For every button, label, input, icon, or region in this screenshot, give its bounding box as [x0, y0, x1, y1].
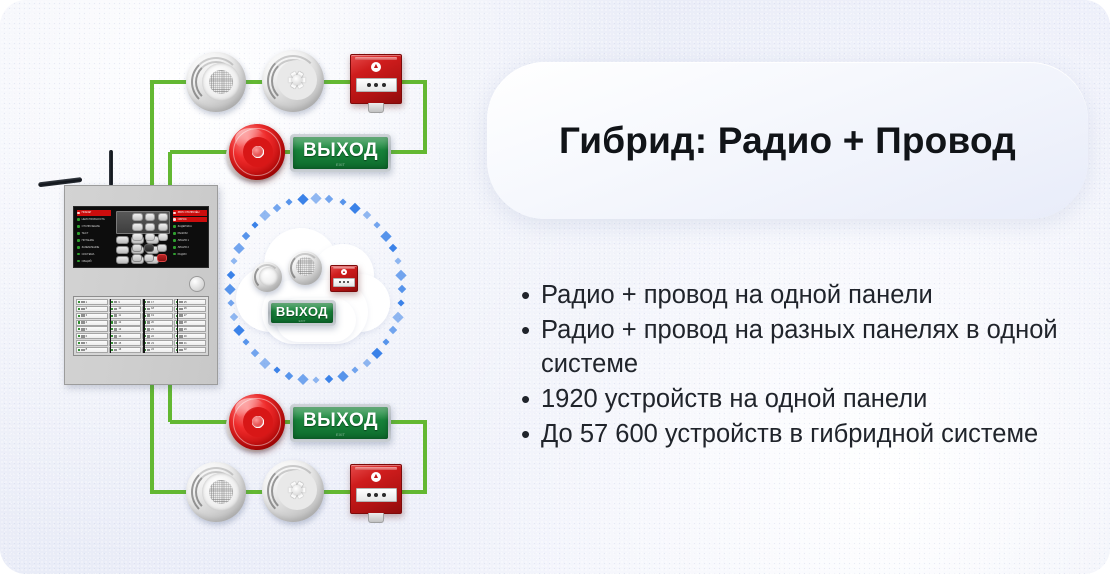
bullet-marker-icon: •	[521, 278, 541, 312]
zone-tick-mark	[179, 321, 182, 324]
panel-button[interactable]	[116, 246, 129, 254]
status-led-icon	[77, 239, 80, 242]
zone-tick-mark	[147, 328, 150, 331]
status-led-icon	[77, 225, 80, 228]
keypad-row[interactable]	[132, 233, 168, 241]
panel-indicator-row: ЗАЗЕМЛЕНИЕ	[77, 244, 111, 250]
zone-row[interactable]: 6	[76, 333, 108, 339]
radio-heat-detector[interactable]	[288, 251, 322, 285]
zone-label: 2	[86, 307, 87, 310]
panel-indicator-row: ЛИНИЯ 2	[173, 244, 207, 250]
zone-row[interactable]: 15	[109, 340, 141, 346]
zone-label: 7	[86, 342, 87, 345]
panel-indicator-label: ЗВУК ОТКЛЮЧЁН	[178, 211, 200, 214]
zone-row[interactable]: 22	[142, 333, 174, 339]
panel-indicator-label: НЕИСПРАВНОСТЬ	[82, 218, 105, 221]
panel-indicator-row: ЛИНИЯ 1	[173, 238, 207, 244]
zone-tick-mark	[114, 301, 117, 304]
panel-key-switch[interactable]	[189, 276, 205, 292]
smoke-detector-heat[interactable]	[262, 50, 324, 112]
zone-led-icon	[78, 315, 80, 317]
feature-list-item: •Радио + провод на одной панели	[521, 278, 1081, 312]
feature-list-item-label: До 57 600 устройств в гибридной системе	[541, 417, 1081, 451]
zone-tick-mark	[81, 314, 84, 317]
zone-led-icon	[78, 349, 80, 351]
panel-indicator-label: ПИТАНИЕ	[82, 239, 94, 242]
status-led-icon	[173, 253, 176, 256]
radio-signal-dot-icon	[351, 367, 358, 374]
feature-list: •Радио + провод на одной панели•Радио + …	[521, 278, 1081, 452]
radio-signal-dot-icon	[325, 195, 333, 203]
bullet-marker-icon: •	[521, 313, 541, 347]
keypad-key[interactable]	[132, 244, 142, 252]
panel-indicator-row: РАДИО	[173, 251, 207, 257]
zone-tick-mark	[114, 349, 117, 352]
sounder-gloss	[235, 398, 265, 420]
zone-tick-mark	[147, 349, 150, 352]
radio-smoke-detector[interactable]	[252, 262, 282, 292]
feature-list-item: •1920 устройств на одной панели	[521, 382, 1081, 416]
panel-center-console	[114, 210, 170, 264]
zone-row[interactable]: 32	[174, 347, 206, 353]
zone-label: 22	[151, 335, 154, 338]
zone-row[interactable]: 1	[76, 299, 108, 305]
page-title: Гибрид: Радио + Провод	[487, 62, 1088, 219]
radio-signal-dot-icon	[339, 199, 346, 206]
flame-icon: ▲	[371, 472, 381, 482]
zone-row[interactable]: 10	[109, 306, 141, 312]
zone-label: 9	[118, 301, 119, 304]
slide-background: ПОЖАРНЕИСПРАВНОСТЬОТКЛЮЧЕНИЕТЕСТПИТАНИЕЗ…	[0, 0, 1110, 574]
panel-keypad[interactable]	[132, 213, 168, 262]
zone-tick-mark	[114, 328, 117, 331]
zone-led-icon	[78, 335, 80, 337]
call-point-window[interactable]	[333, 278, 354, 287]
zone-tick-mark	[114, 314, 117, 317]
zone-label: 14	[118, 335, 121, 338]
keypad-row[interactable]	[132, 254, 168, 262]
zone-row[interactable]: 25	[174, 299, 206, 305]
keypad-row[interactable]	[132, 223, 168, 231]
zone-label: 12	[118, 321, 121, 324]
radio-signal-dot-icon	[397, 300, 404, 307]
zone-label: 16	[118, 348, 121, 351]
radio-signal-dot-icon	[260, 357, 271, 368]
exit-sign-label: ВЫХОД	[276, 304, 328, 319]
smoke-detector-optical-lower[interactable]	[186, 462, 246, 522]
zone-label: 18	[151, 307, 154, 310]
call-point-window[interactable]	[356, 78, 397, 92]
zone-tick-mark	[81, 335, 84, 338]
zone-row[interactable]: 20	[142, 320, 174, 326]
feature-list-item-label: Радио + провод на разных панелях в одной…	[541, 313, 1081, 381]
bullet-marker-icon: •	[521, 417, 541, 451]
zone-label: 29	[184, 328, 187, 331]
detector-grille	[209, 70, 233, 94]
status-led-icon	[173, 246, 176, 249]
radio-exit-sign[interactable]: ВЫХОД EXIT	[268, 300, 336, 326]
feature-list-item: •До 57 600 устройств в гибридной системе	[521, 417, 1081, 451]
title-card: Гибрид: Радио + Провод	[487, 62, 1088, 219]
alarm-sounder[interactable]	[229, 124, 285, 180]
zone-label: 11	[118, 314, 121, 317]
panel-indicator-row: ПОЖАР	[77, 210, 111, 216]
radio-signal-dot-icon	[297, 194, 308, 205]
status-led-icon	[77, 260, 80, 263]
exit-sign-label: ВЫХОД	[303, 140, 378, 162]
radio-manual-call-point[interactable]: ▲	[330, 265, 358, 292]
keypad-key[interactable]	[144, 254, 154, 262]
zone-column: 1718192021222324	[142, 299, 174, 353]
status-led-icon	[173, 218, 176, 221]
radio-signal-dot-icon	[273, 367, 280, 374]
zone-row[interactable]: 31	[174, 340, 206, 346]
zone-tick-mark	[81, 301, 84, 304]
zone-label: 3	[86, 314, 87, 317]
panel-indicator-row: РЕЖИМ	[173, 231, 207, 237]
panel-indicator-label: РАДИО	[178, 253, 187, 256]
radio-signal-dot-icon	[285, 371, 293, 379]
radio-signal-dot-icon	[260, 210, 271, 221]
zone-row[interactable]: 30	[174, 333, 206, 339]
system-diagram: ПОЖАРНЕИСПРАВНОСТЬОТКЛЮЧЕНИЕТЕСТПИТАНИЕЗ…	[0, 0, 470, 574]
zone-tick-mark	[179, 335, 182, 338]
zone-tick-mark	[179, 314, 182, 317]
call-point-bezel	[355, 57, 397, 60]
zone-tick-mark	[179, 301, 182, 304]
zone-row[interactable]: 4	[76, 320, 108, 326]
zone-row[interactable]: 16	[109, 347, 141, 353]
keypad-key[interactable]	[145, 213, 156, 221]
keypad-key[interactable]	[158, 223, 169, 231]
exit-sign-label: ВЫХОД	[303, 410, 378, 432]
zone-row[interactable]: 3	[76, 313, 108, 319]
zone-label: 24	[151, 348, 154, 351]
radio-signal-dot-icon	[337, 370, 348, 381]
zone-led-icon	[78, 308, 80, 310]
zone-column-divider	[177, 299, 179, 353]
keypad-key-alarm[interactable]	[157, 254, 167, 262]
zone-column: 910111213141516	[109, 299, 141, 353]
keypad-key[interactable]	[158, 213, 169, 221]
panel-indicator-label: СБРОС	[178, 218, 187, 221]
exit-sign-face: ВЫХОД EXIT	[293, 407, 388, 439]
panel-indicator-label: СИСТЕМА	[82, 253, 95, 256]
radio-signal-dot-icon	[273, 204, 281, 212]
zone-row[interactable]: 23	[142, 340, 174, 346]
detector-hub	[292, 485, 302, 495]
zone-led-icon	[78, 342, 80, 344]
panel-right-legend: ЗВУК ОТКЛЮЧЁНСБРОСЗАДЕРЖКАРЕЖИМЛИНИЯ 1ЛИ…	[173, 210, 207, 264]
zone-tick-mark	[114, 342, 117, 345]
zone-column: 2526272829303132	[174, 299, 206, 353]
panel-indicator-label: ЗАЗЕМЛЕНИЕ	[82, 246, 100, 249]
zone-label: 19	[151, 314, 154, 317]
zone-tick-mark	[114, 335, 117, 338]
panel-antenna-vertical	[109, 150, 113, 186]
panel-indicator-label: ОТКЛЮЧЕНИЕ	[82, 225, 100, 228]
zone-label: 26	[184, 307, 187, 310]
zone-label: 31	[184, 342, 187, 345]
zone-label: 8	[86, 348, 87, 351]
radio-signal-dot-icon	[362, 358, 370, 366]
status-led-icon	[173, 232, 176, 235]
zone-label: 28	[184, 321, 187, 324]
radio-signal-dot-icon	[227, 271, 235, 279]
radio-signal-dot-icon	[350, 203, 361, 214]
keypad-row[interactable]	[132, 213, 168, 221]
zone-label: 20	[151, 321, 154, 324]
exit-sign[interactable]: ВЫХОД EXIT	[290, 134, 391, 172]
exit-sign-sublabel: EXIT	[299, 319, 306, 323]
status-led-icon	[77, 246, 80, 249]
zone-label: 27	[184, 314, 187, 317]
zone-label: 13	[118, 328, 121, 331]
zone-label: 32	[184, 348, 187, 351]
zone-led-icon	[78, 321, 80, 323]
panel-indicator-label: ЛИНИЯ 2	[178, 246, 189, 249]
zone-row[interactable]: 19	[142, 313, 174, 319]
panel-button[interactable]	[116, 256, 129, 264]
zone-row[interactable]: 12	[109, 320, 141, 326]
zone-row[interactable]: 28	[174, 320, 206, 326]
feature-list-item: •Радио + провод на разных панелях в одно…	[521, 313, 1081, 381]
panel-zone-grid[interactable]: 1234567891011121314151617181920212223242…	[73, 296, 209, 356]
zone-tick-mark	[147, 301, 150, 304]
panel-indicator-label: ОБЩИЙ	[82, 260, 92, 263]
zone-row[interactable]: 29	[174, 326, 206, 332]
zone-tick-mark	[81, 321, 84, 324]
zone-label: 15	[118, 342, 121, 345]
fire-alarm-control-panel[interactable]: ПОЖАРНЕИСПРАВНОСТЬОТКЛЮЧЕНИЕТЕСТПИТАНИЕЗ…	[64, 185, 218, 385]
radio-signal-dot-icon	[228, 300, 235, 307]
panel-indicator-label: ЗАДЕРЖКА	[178, 225, 192, 228]
zone-row[interactable]: 2	[76, 306, 108, 312]
zone-label: 10	[118, 307, 121, 310]
zone-tick-mark	[114, 308, 117, 311]
radio-signal-dot-icon	[286, 199, 293, 206]
zone-row[interactable]: 14	[109, 333, 141, 339]
sounder-gloss	[235, 128, 265, 150]
radio-signal-dot-icon	[362, 211, 370, 219]
zone-tick-mark	[179, 328, 182, 331]
call-point-window[interactable]	[356, 488, 397, 502]
zone-led-icon	[78, 301, 80, 303]
zone-row[interactable]: 18	[142, 306, 174, 312]
zone-label: 23	[151, 342, 154, 345]
exit-sign-face: ВЫХОД EXIT	[293, 137, 388, 169]
keypad-key[interactable]	[145, 233, 156, 241]
panel-indicator-label: ТЕСТ	[82, 232, 89, 235]
detector-grille	[296, 257, 315, 276]
keypad-key[interactable]	[132, 213, 143, 221]
zone-row[interactable]: 7	[76, 340, 108, 346]
zone-tick-mark	[114, 321, 117, 324]
panel-indicator-row: СИСТЕМА	[77, 251, 111, 257]
zone-tick-mark	[81, 328, 84, 331]
zone-row[interactable]: 11	[109, 313, 141, 319]
panel-indicator-label: ЛИНИЯ 1	[178, 239, 189, 242]
keypad-key[interactable]	[145, 223, 156, 231]
zone-row[interactable]: 17	[142, 299, 174, 305]
panel-button[interactable]	[116, 236, 129, 244]
zone-label: 17	[151, 301, 154, 304]
zone-row[interactable]: 5	[76, 326, 108, 332]
status-led-icon	[173, 212, 176, 215]
zone-tick-mark	[81, 342, 84, 345]
panel-left-legend: ПОЖАРНЕИСПРАВНОСТЬОТКЛЮЧЕНИЕТЕСТПИТАНИЕЗ…	[77, 210, 111, 264]
keypad-key[interactable]	[144, 244, 154, 252]
exit-sign-face: ВЫХОД EXIT	[271, 303, 333, 323]
zone-row[interactable]: 24	[142, 347, 174, 353]
zone-tick-mark	[179, 349, 182, 352]
zone-tick-mark	[179, 342, 182, 345]
radio-zone-cloud: ▲ ВЫХОД EXIT	[228, 196, 404, 382]
keypad-key[interactable]	[158, 233, 169, 241]
flame-icon: ▲	[371, 62, 381, 72]
zone-tick-mark	[147, 314, 150, 317]
zone-label: 25	[184, 301, 187, 304]
panel-indicator-row: ОТКЛЮЧЕНИЕ	[77, 224, 111, 230]
status-led-icon	[77, 232, 80, 235]
alarm-sounder-lower[interactable]	[229, 394, 285, 450]
status-led-icon	[77, 253, 80, 256]
zone-column: 12345678	[76, 299, 108, 353]
zone-tick-mark	[147, 342, 150, 345]
panel-faceplate: ПОЖАРНЕИСПРАВНОСТЬОТКЛЮЧЕНИЕТЕСТПИТАНИЕЗ…	[73, 206, 209, 268]
panel-indicator-row: ЗВУК ОТКЛЮЧЁН	[173, 210, 207, 216]
flame-icon: ▲	[341, 269, 347, 275]
call-point-bezel	[355, 467, 397, 470]
zone-row[interactable]: 9	[109, 299, 141, 305]
zone-tick-mark	[147, 321, 150, 324]
bullet-marker-icon: •	[521, 382, 541, 416]
panel-indicator-row: СБРОС	[173, 217, 207, 223]
zone-tick-mark	[179, 308, 182, 311]
radio-signal-dot-icon	[325, 375, 333, 383]
manual-call-point[interactable]: ▲	[350, 54, 402, 104]
zone-column-divider	[143, 299, 145, 353]
zone-column-divider	[110, 299, 112, 353]
zone-row[interactable]: 21	[142, 326, 174, 332]
zone-label: 5	[86, 328, 87, 331]
zone-label: 6	[86, 335, 87, 338]
zone-label: 1	[86, 301, 87, 304]
panel-indicator-row: ЗАДЕРЖКА	[173, 224, 207, 230]
call-point-handle[interactable]	[368, 513, 384, 523]
zone-row[interactable]: 27	[174, 313, 206, 319]
slide-canvas: ПОЖАРНЕИСПРАВНОСТЬОТКЛЮЧЕНИЕТЕСТПИТАНИЕЗ…	[0, 0, 1110, 574]
status-led-icon	[173, 239, 176, 242]
panel-indicator-row: ПИТАНИЕ	[77, 238, 111, 244]
status-led-icon	[173, 225, 176, 228]
call-point-handle[interactable]	[368, 103, 384, 113]
exit-sign-sublabel: EXIT	[336, 432, 345, 437]
keypad-row[interactable]	[132, 244, 168, 252]
detector-face	[259, 267, 278, 286]
exit-sign-sublabel: EXIT	[336, 162, 345, 167]
panel-indicator-row: ТЕСТ	[77, 231, 111, 237]
panel-indicator-row: НЕИСПРАВНОСТЬ	[77, 217, 111, 223]
feature-list-item-label: 1920 устройств на одной панели	[541, 382, 1081, 416]
smoke-detector-optical[interactable]	[186, 52, 246, 112]
zone-label: 21	[151, 328, 154, 331]
panel-indicator-row: ОБЩИЙ	[77, 258, 111, 264]
status-led-icon	[77, 218, 80, 221]
panel-indicator-label: ПОЖАР	[82, 211, 92, 214]
zone-led-icon	[78, 328, 80, 330]
keypad-key[interactable]	[157, 244, 167, 252]
smoke-detector-heat-lower[interactable]	[262, 460, 324, 522]
manual-call-point-lower[interactable]: ▲	[350, 464, 402, 514]
zone-label: 30	[184, 335, 187, 338]
keypad-key[interactable]	[132, 223, 143, 231]
keypad-key[interactable]	[132, 254, 142, 262]
zone-label: 4	[86, 321, 87, 324]
exit-sign-lower[interactable]: ВЫХОД EXIT	[290, 404, 391, 442]
status-led-icon	[77, 212, 80, 215]
zone-tick-mark	[147, 335, 150, 338]
keypad-key[interactable]	[132, 233, 143, 241]
zone-tick-mark	[147, 308, 150, 311]
zone-tick-mark	[81, 349, 84, 352]
zone-row[interactable]: 8	[76, 347, 108, 353]
detector-hub	[292, 75, 302, 85]
zone-tick-mark	[81, 308, 84, 311]
panel-indicator-label: РЕЖИМ	[178, 232, 188, 235]
zone-row[interactable]: 13	[109, 326, 141, 332]
detector-grille	[209, 480, 233, 504]
feature-list-item-label: Радио + провод на одной панели	[541, 278, 1081, 312]
zone-row[interactable]: 26	[174, 306, 206, 312]
